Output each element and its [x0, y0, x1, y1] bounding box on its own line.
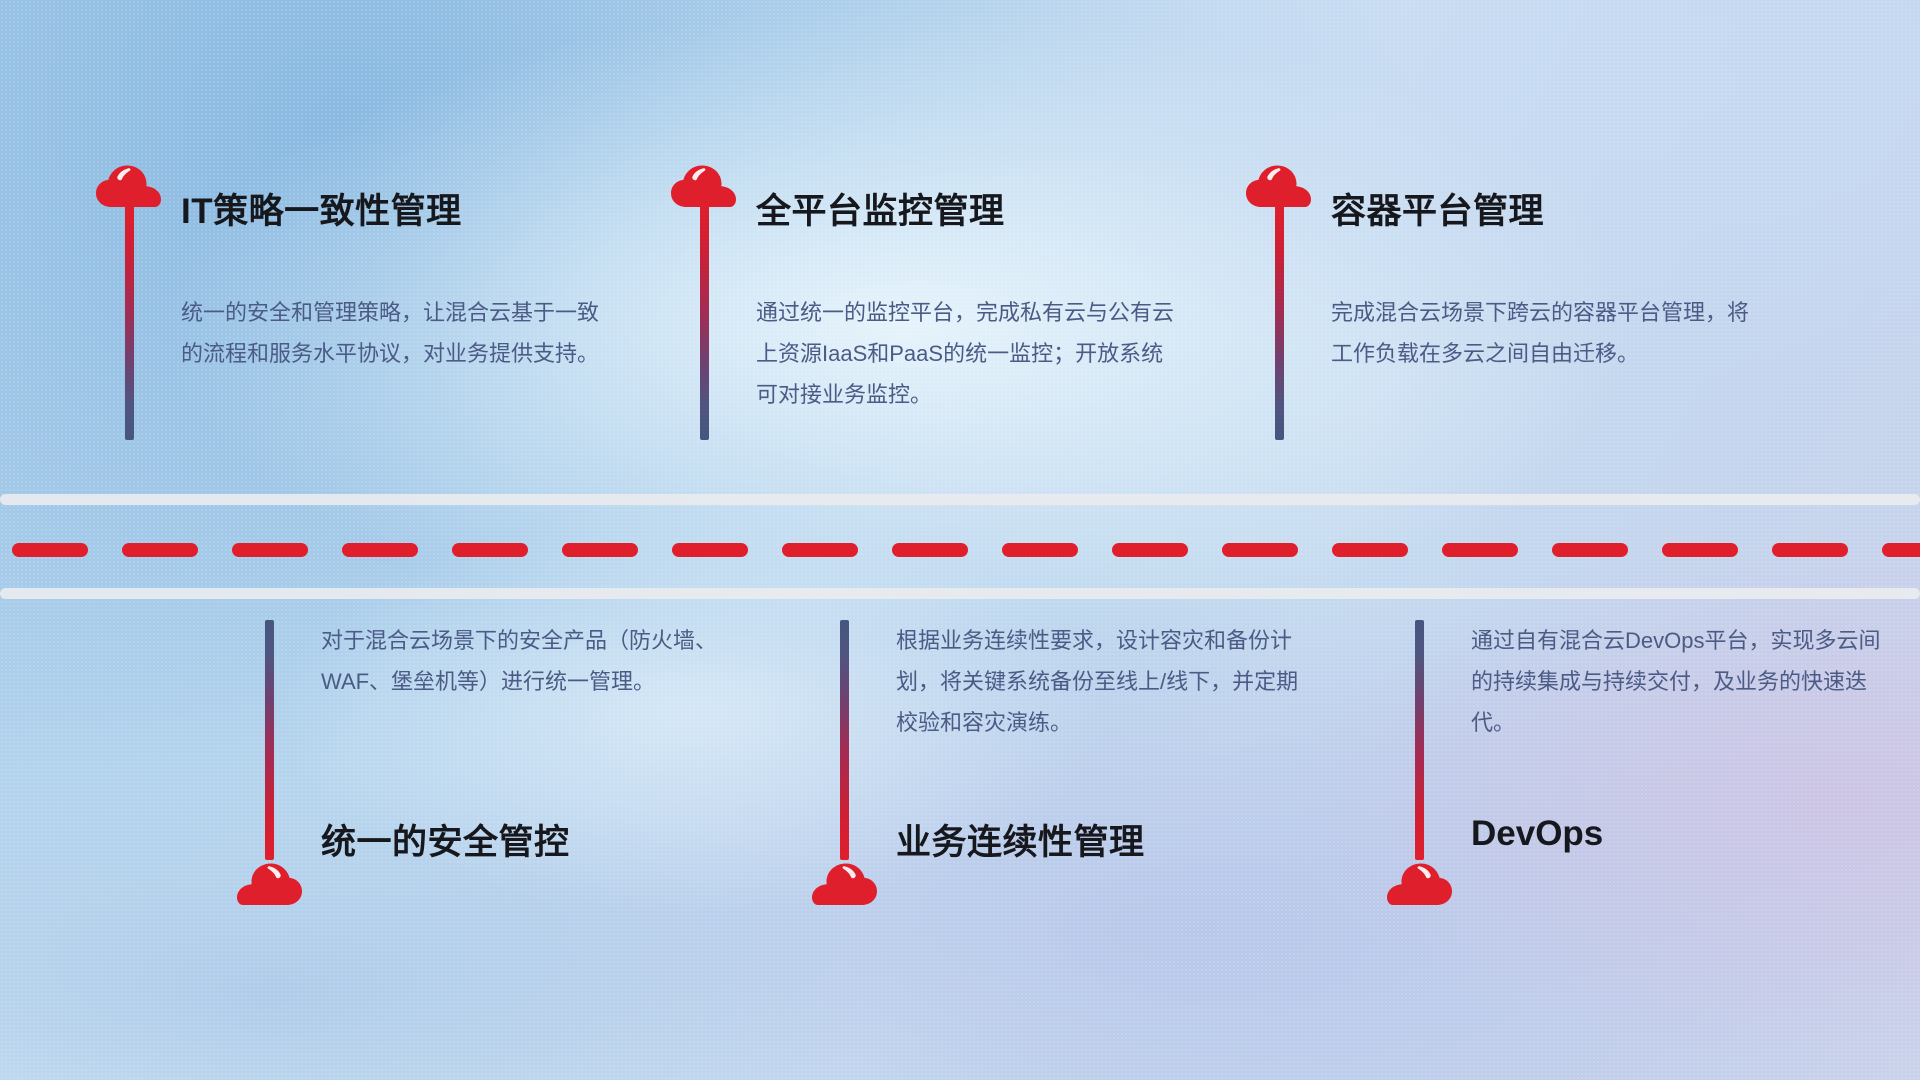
card-title: 容器平台管理 — [1331, 183, 1544, 234]
background-gradient — [0, 0, 1920, 1080]
card-body: 根据业务连续性要求，设计容灾和备份计划，将关键系统备份至线上/线下，并定期校验和… — [896, 620, 1316, 743]
background-blob-top-left — [0, 0, 1920, 1080]
stem-line — [840, 620, 849, 860]
road-edge-bottom — [0, 588, 1920, 599]
background-blob-right — [0, 0, 1920, 1080]
cloud-pin-top-1 — [95, 160, 167, 208]
road-dash — [1772, 543, 1848, 557]
cloud-pin-top-2 — [670, 160, 742, 208]
road-dash — [342, 543, 418, 557]
card-title: DevOps — [1471, 814, 1603, 854]
background-grain-texture — [0, 0, 1920, 1080]
road-dash — [1332, 543, 1408, 557]
road-center-dashes — [0, 543, 1920, 557]
card-title: 全平台监控管理 — [756, 183, 1005, 234]
card-body: 通过自有混合云DevOps平台，实现多云间的持续集成与持续交付，及业务的快速迭代… — [1471, 620, 1891, 743]
stem-line — [265, 620, 274, 860]
stem-line — [1275, 204, 1284, 440]
background-blob-bottom — [0, 0, 1920, 1080]
road-dash — [1112, 543, 1188, 557]
road-edge-top — [0, 494, 1920, 505]
cloud-icon — [810, 858, 878, 906]
stem-line — [125, 204, 134, 440]
road-dash — [1222, 543, 1298, 557]
road-dash — [1662, 543, 1738, 557]
road-dash — [12, 543, 88, 557]
stem-line — [1415, 620, 1424, 860]
road-dash — [672, 543, 748, 557]
stem-line — [700, 204, 709, 440]
road-dash — [782, 543, 858, 557]
card-body: 完成混合云场景下跨云的容器平台管理，将工作负载在多云之间自由迁移。 — [1331, 292, 1751, 374]
card-title: 统一的安全管控 — [321, 814, 570, 865]
road-dash — [452, 543, 528, 557]
cloud-pin-top-3 — [1245, 160, 1317, 208]
road-dash — [1882, 543, 1920, 557]
card-title: IT策略一致性管理 — [181, 183, 462, 234]
road-dash — [232, 543, 308, 557]
cloud-icon — [670, 160, 738, 208]
background-blob-mid-left — [0, 0, 1920, 1080]
cloud-icon — [95, 160, 163, 208]
cloud-icon — [1245, 160, 1313, 208]
card-body: 统一的安全和管理策略，让混合云基于一致的流程和服务水平协议，对业务提供支持。 — [181, 292, 601, 374]
road-dash — [1552, 543, 1628, 557]
road-dash — [562, 543, 638, 557]
road-dash — [1442, 543, 1518, 557]
road-dash — [892, 543, 968, 557]
background-blob-top-right — [0, 0, 1920, 1080]
cloud-icon — [1385, 858, 1453, 906]
background-blob-center — [0, 0, 1920, 1080]
infographic-canvas: IT策略一致性管理 统一的安全和管理策略，让混合云基于一致的流程和服务水平协议，… — [0, 0, 1920, 1080]
road-dash — [122, 543, 198, 557]
card-body: 通过统一的监控平台，完成私有云与公有云上资源IaaS和PaaS的统一监控；开放系… — [756, 292, 1176, 415]
road-dash — [1002, 543, 1078, 557]
background-blob-bottom-left — [0, 0, 1920, 1080]
cloud-icon — [235, 858, 303, 906]
card-body: 对于混合云场景下的安全产品（防火墙、WAF、堡垒机等）进行统一管理。 — [321, 620, 741, 702]
card-title: 业务连续性管理 — [896, 814, 1145, 865]
